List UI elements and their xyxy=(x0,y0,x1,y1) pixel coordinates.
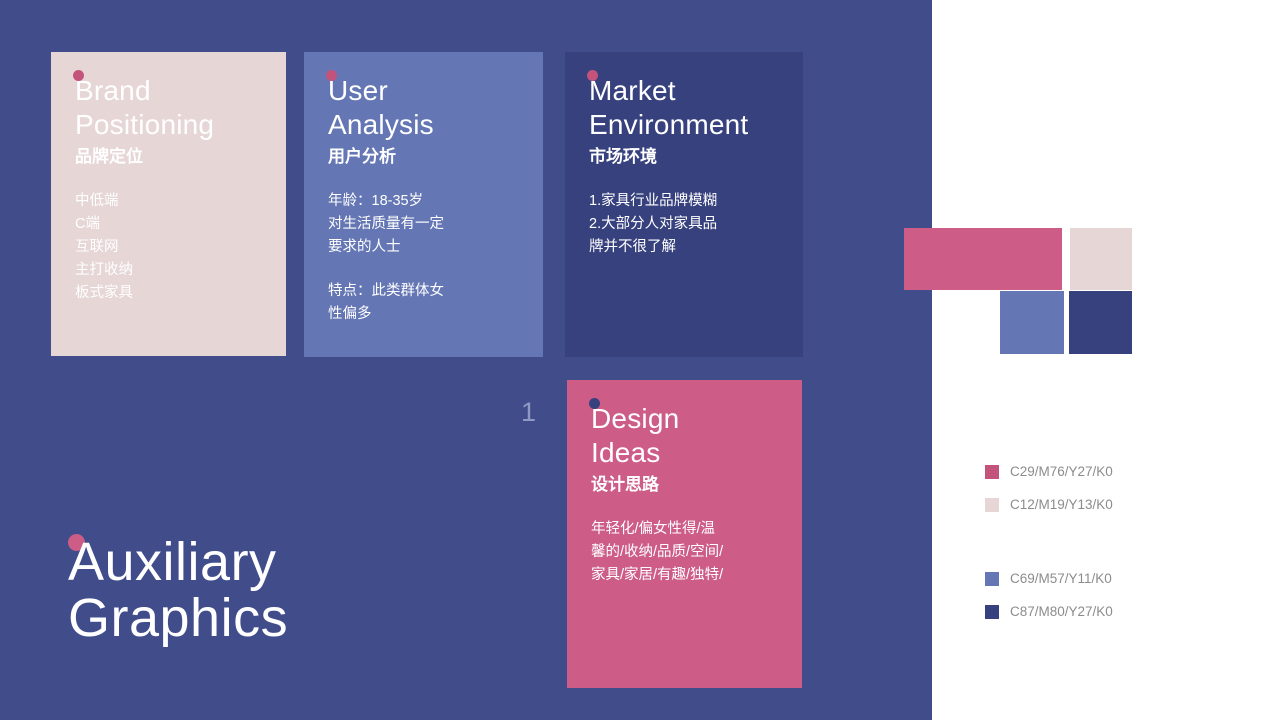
cmyk-legend: C29/M76/Y27/K0 C12/M19/Y13/K0 C69/M57/Y1… xyxy=(985,455,1225,628)
legend-swatch-icon xyxy=(985,605,999,619)
slide-canvas: Brand Positioning 品牌定位 中低端 C端 互联网 主打收纳 板… xyxy=(0,0,1280,720)
legend-item: C12/M19/Y13/K0 xyxy=(985,488,1225,521)
color-block-periwinkle xyxy=(1000,291,1064,354)
legend-label: C12/M19/Y13/K0 xyxy=(1010,497,1113,513)
color-block-navy xyxy=(1069,291,1132,354)
legend-swatch-icon xyxy=(985,465,999,479)
legend-swatch-icon xyxy=(985,498,999,512)
legend-item: C29/M76/Y27/K0 xyxy=(985,455,1225,488)
legend-label: C69/M57/Y11/K0 xyxy=(1010,571,1112,587)
legend-label: C87/M80/Y27/K0 xyxy=(1010,604,1113,620)
color-block-pink xyxy=(904,228,1062,290)
legend-item: C87/M80/Y27/K0 xyxy=(985,595,1225,628)
legend-swatch-icon xyxy=(985,572,999,586)
legend-label: C29/M76/Y27/K0 xyxy=(1010,464,1113,480)
legend-item: C69/M57/Y11/K0 xyxy=(985,562,1225,595)
color-block-blush xyxy=(1070,228,1132,290)
